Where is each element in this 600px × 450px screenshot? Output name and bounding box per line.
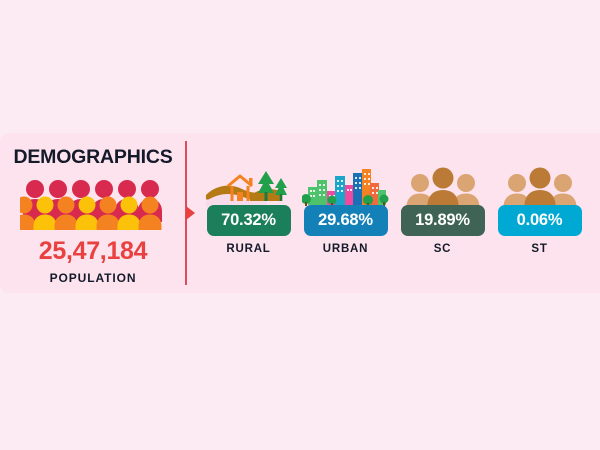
sc-icon-wrap [404, 163, 482, 211]
population-value: 25,47,184 [39, 237, 148, 266]
st-icon-wrap [501, 163, 579, 211]
stat-label-sc: SC [434, 243, 452, 255]
stat-label-st: ST [531, 243, 547, 255]
divider-arrow-icon [186, 206, 195, 220]
stat-item-rural[interactable]: 70.32% RURAL [201, 163, 297, 255]
rural-icon-wrap [206, 163, 292, 211]
page-title: DEMOGRAPHICS [13, 146, 172, 169]
stat-item-sc[interactable]: 19.89% SC [395, 163, 491, 255]
stat-item-urban[interactable]: 29.68% URBAN [298, 163, 394, 255]
stat-badge-urban: 29.68% [304, 205, 388, 236]
population-panel: DEMOGRAPHICS [0, 133, 186, 293]
stat-badge-sc: 19.89% [401, 205, 485, 236]
stats-panel: 70.32% RURAL [186, 133, 600, 293]
demographics-card: DEMOGRAPHICS [0, 133, 600, 293]
crowd-people-icon [20, 178, 166, 230]
stat-label-urban: URBAN [323, 243, 369, 255]
stat-badge-rural: 70.32% [207, 205, 291, 236]
stat-item-st[interactable]: 0.06% ST [492, 163, 588, 255]
stat-badge-st: 0.06% [498, 205, 582, 236]
population-label: POPULATION [50, 271, 137, 285]
urban-icon-wrap [302, 163, 390, 211]
stat-label-rural: RURAL [226, 243, 270, 255]
